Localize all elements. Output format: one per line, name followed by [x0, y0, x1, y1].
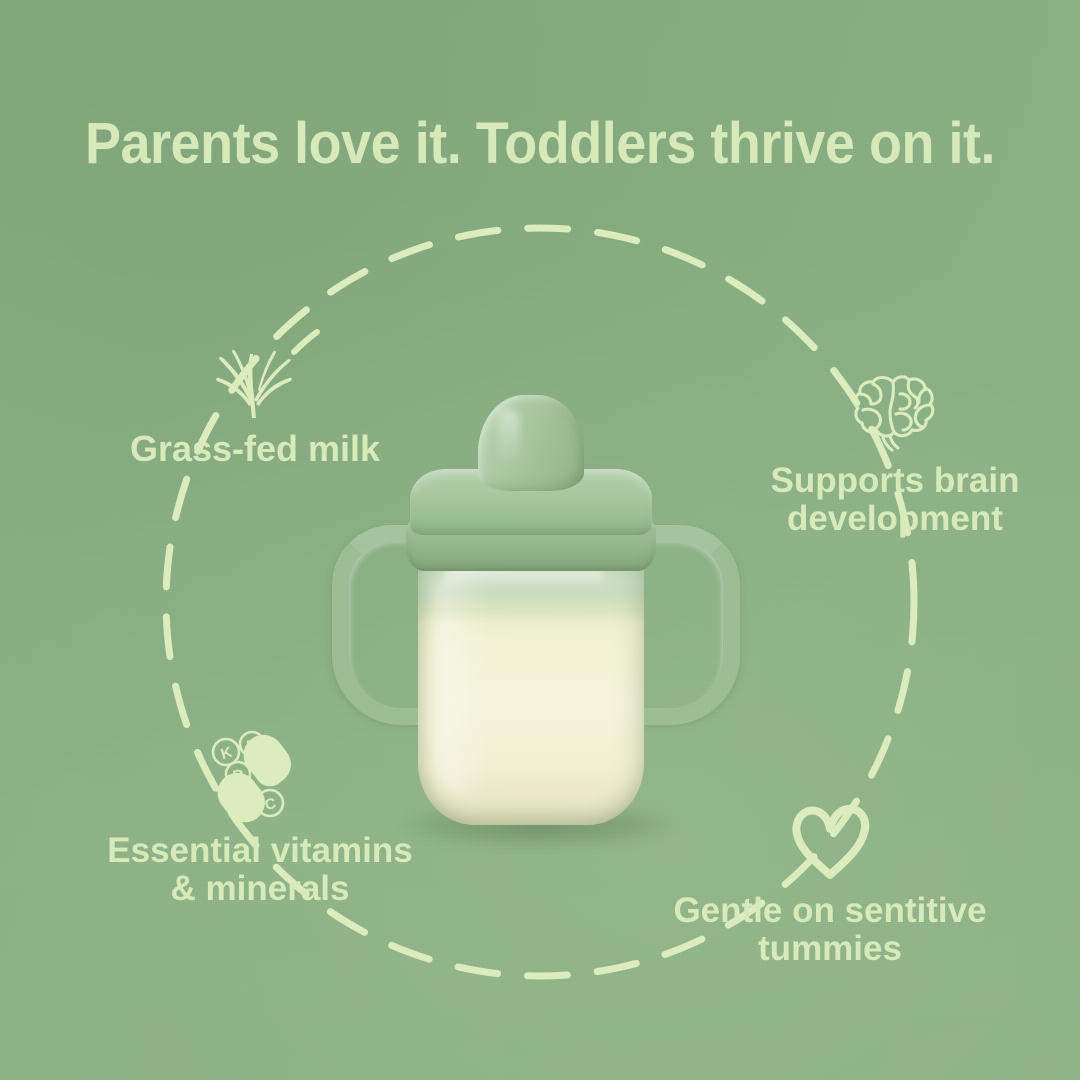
feature-grass-fed-milk: Grass-fed milk — [60, 330, 450, 469]
capsule-vitamins-icon-wrap: K B D A C — [50, 730, 470, 822]
feature-vitamins-label: Essential vitamins & minerals — [50, 832, 470, 908]
page-title: Parents love it. Toddlers thrive on it. — [38, 110, 1042, 177]
feature-tummies-label: Gentle on sentitive tummies — [620, 892, 1040, 968]
brain-icon — [847, 372, 943, 452]
capsule-vitamins-icon: K B D A C — [204, 730, 316, 822]
brain-icon-wrap — [730, 372, 1060, 452]
vitamin-letter-c: C — [263, 795, 278, 814]
feature-gentle-tummies: Gentle on sentitive tummies — [620, 800, 1040, 968]
feature-essential-vitamins: K B D A C Essential vitamins & minerals — [50, 730, 470, 908]
heart-icon-wrap — [620, 800, 1040, 882]
cup-spout — [478, 395, 584, 491]
feature-brain-label: Supports brain development — [730, 462, 1060, 538]
product-poster: Parents love it. Toddlers thrive on it. — [0, 0, 1080, 1080]
heart-icon — [786, 800, 874, 882]
grass-icon-wrap — [60, 330, 450, 420]
feature-brain-development: Supports brain development — [730, 372, 1060, 538]
feature-grass-label: Grass-fed milk — [60, 430, 450, 469]
vitamin-letter-k: K — [219, 744, 234, 763]
grass-icon — [190, 330, 320, 420]
